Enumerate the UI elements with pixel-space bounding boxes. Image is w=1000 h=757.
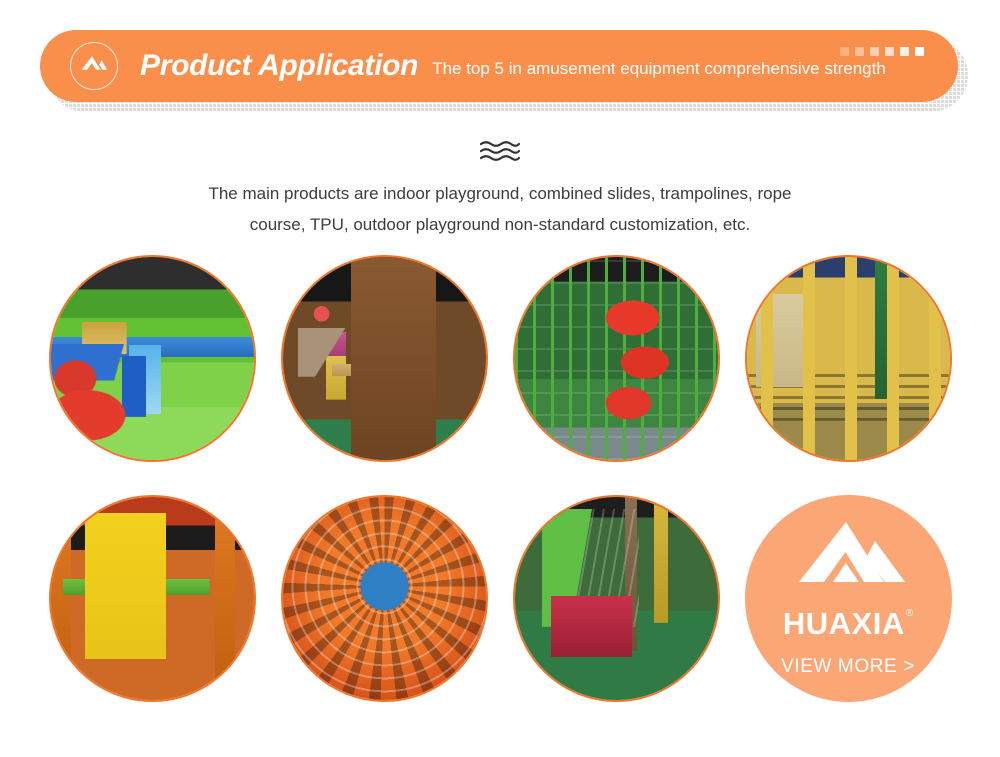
brand-name: HUAXIA xyxy=(783,608,905,639)
banner-subtitle: The top 5 in amusement equipment compreh… xyxy=(432,59,886,79)
intro-section: The main products are indoor playground,… xyxy=(0,140,1000,240)
page-title: Product Application xyxy=(140,49,418,83)
gallery-row-2: HUAXIA ® VIEW MORE > xyxy=(0,495,1000,702)
gallery-photo-yellow-poles-soft-play[interactable] xyxy=(745,255,952,462)
wave-divider-icon xyxy=(480,140,520,162)
banner-bar: Product Application The top 5 in amuseme… xyxy=(40,30,958,102)
gallery-row-1 xyxy=(0,255,1000,462)
photo-image xyxy=(515,497,718,700)
view-more-button[interactable]: HUAXIA ® VIEW MORE > xyxy=(745,495,952,702)
product-gallery: HUAXIA ® VIEW MORE > xyxy=(0,255,1000,735)
intro-description: The main products are indoor playground,… xyxy=(180,178,820,240)
gallery-photo-indoor-playground-blue-slide[interactable] xyxy=(49,255,256,462)
photo-image xyxy=(515,257,718,460)
huaxia-mountain-logo-icon xyxy=(789,520,907,606)
product-application-banner: Product Application The top 5 in amuseme… xyxy=(40,30,960,108)
registered-trademark-icon: ® xyxy=(906,609,913,619)
gallery-photo-green-red-crawl-tube[interactable] xyxy=(513,495,720,702)
banner-dot xyxy=(915,47,924,56)
photo-image xyxy=(283,257,486,460)
banner-dot xyxy=(840,47,849,56)
banner-dot xyxy=(870,47,879,56)
gallery-photo-yellow-tiger-wave-slide[interactable] xyxy=(49,495,256,702)
banner-dot xyxy=(900,47,909,56)
gallery-photo-orange-rope-tunnel[interactable] xyxy=(281,495,488,702)
huaxia-mountain-logo-icon xyxy=(70,42,118,90)
photo-image xyxy=(283,497,486,700)
banner-dot xyxy=(885,47,894,56)
photo-image xyxy=(747,257,950,460)
photo-image xyxy=(51,257,254,460)
brand-wordmark: HUAXIA ® xyxy=(783,608,913,639)
view-more-label: VIEW MORE > xyxy=(781,656,915,678)
gallery-photo-red-spiral-tube-slide[interactable] xyxy=(513,255,720,462)
banner-dot xyxy=(855,47,864,56)
photo-image xyxy=(51,497,254,700)
gallery-photo-wooden-ship-tube-slide[interactable] xyxy=(281,255,488,462)
banner-decorative-dots xyxy=(840,47,924,56)
